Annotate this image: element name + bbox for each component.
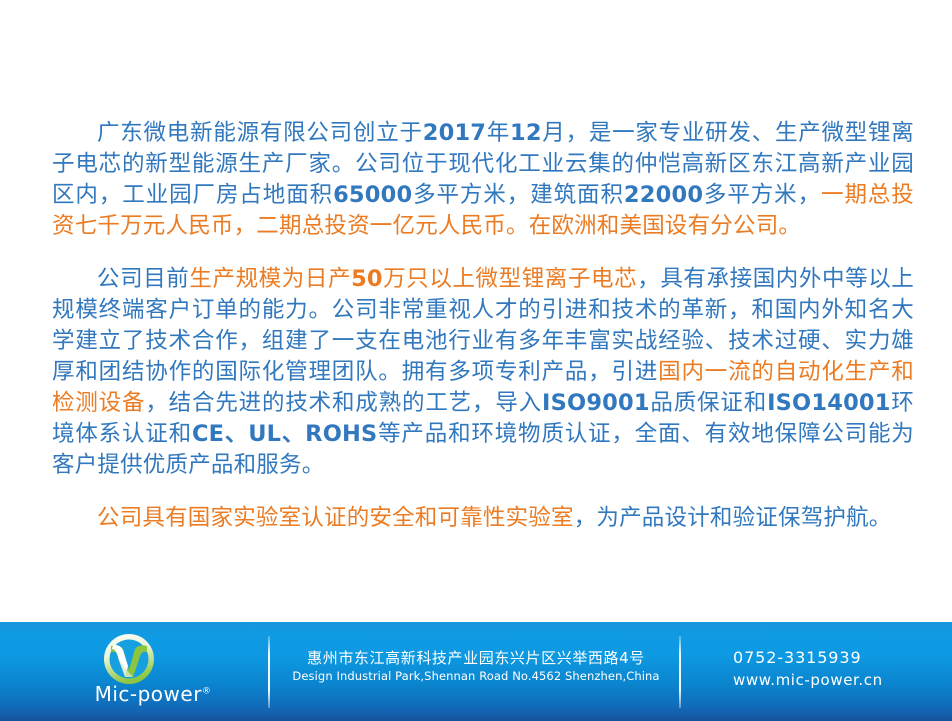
- text-run: 12: [510, 120, 542, 146]
- footer-divider-left: [268, 636, 270, 708]
- address-chinese: 惠州市东江高新科技产业园东兴片区兴举西路4号: [280, 648, 672, 668]
- text-run: ISO9001: [542, 390, 650, 416]
- mic-power-logo-icon: [102, 632, 156, 686]
- text-run: 广东微电新能源有限公司创立于: [97, 120, 423, 146]
- text-run: 万只以上微型锂离子电芯: [383, 266, 637, 292]
- text-run: ，结合先进的技术和成熟的工艺，导入: [145, 390, 542, 416]
- text-run: 品质保证和: [650, 390, 767, 416]
- text-run: ，为产品设计和验证保驾护航。: [574, 505, 892, 531]
- address-english: Design Industrial Park,Shennan Road No.4…: [280, 668, 672, 685]
- paragraph-laboratory: 公司具有国家实验室认证的安全和可靠性实验室，为产品设计和验证保驾护航。: [52, 503, 914, 534]
- footer-divider-right: [679, 636, 681, 708]
- text-run: 22000: [624, 182, 703, 208]
- logo-wordmark: Mic-power®: [58, 682, 248, 706]
- paragraph-production-capacity: 公司目前生产规模为日产50万只以上微型锂离子电芯，具有承接国内外中等以上规模终端…: [52, 264, 914, 481]
- text-run: ISO14001: [767, 390, 891, 416]
- contact-phone: 0752-3315939: [733, 646, 883, 669]
- logo-wordmark-text: Mic-power: [95, 682, 202, 706]
- slide-canvas: 广东微电新能源有限公司创立于2017年12月，是一家专业研发、生产微型锂离子电芯…: [0, 0, 952, 721]
- text-run: 2017: [423, 120, 486, 146]
- contact-website[interactable]: www.mic-power.cn: [733, 669, 883, 691]
- text-run: 50: [351, 266, 383, 292]
- text-run: 多平方米，建筑面积: [412, 182, 624, 208]
- paragraph-company-intro: 广东微电新能源有限公司创立于2017年12月，是一家专业研发、生产微型锂离子电芯…: [52, 118, 914, 242]
- footer-address: 惠州市东江高新科技产业园东兴片区兴举西路4号 Design Industrial…: [280, 648, 672, 685]
- slide-footer-band: Mic-power® 惠州市东江高新科技产业园东兴片区兴举西路4号 Design…: [0, 622, 952, 721]
- footer-contact: 0752-3315939 www.mic-power.cn: [733, 646, 883, 691]
- text-run: 多平方米，: [703, 182, 821, 208]
- registered-trademark-icon: ®: [202, 686, 212, 696]
- text-run: 公司具有国家实验室认证的安全和可靠性实验室: [97, 505, 574, 531]
- text-run: 公司目前: [97, 266, 189, 292]
- slide-body-text: 广东微电新能源有限公司创立于2017年12月，是一家专业研发、生产微型锂离子电芯…: [52, 118, 914, 534]
- text-run: 生产规模为日产: [189, 266, 351, 292]
- text-run: CE、UL、ROHS: [192, 421, 378, 447]
- text-run: 65000: [333, 182, 412, 208]
- company-logo: Mic-power®: [58, 630, 248, 715]
- text-run: 年: [486, 120, 510, 146]
